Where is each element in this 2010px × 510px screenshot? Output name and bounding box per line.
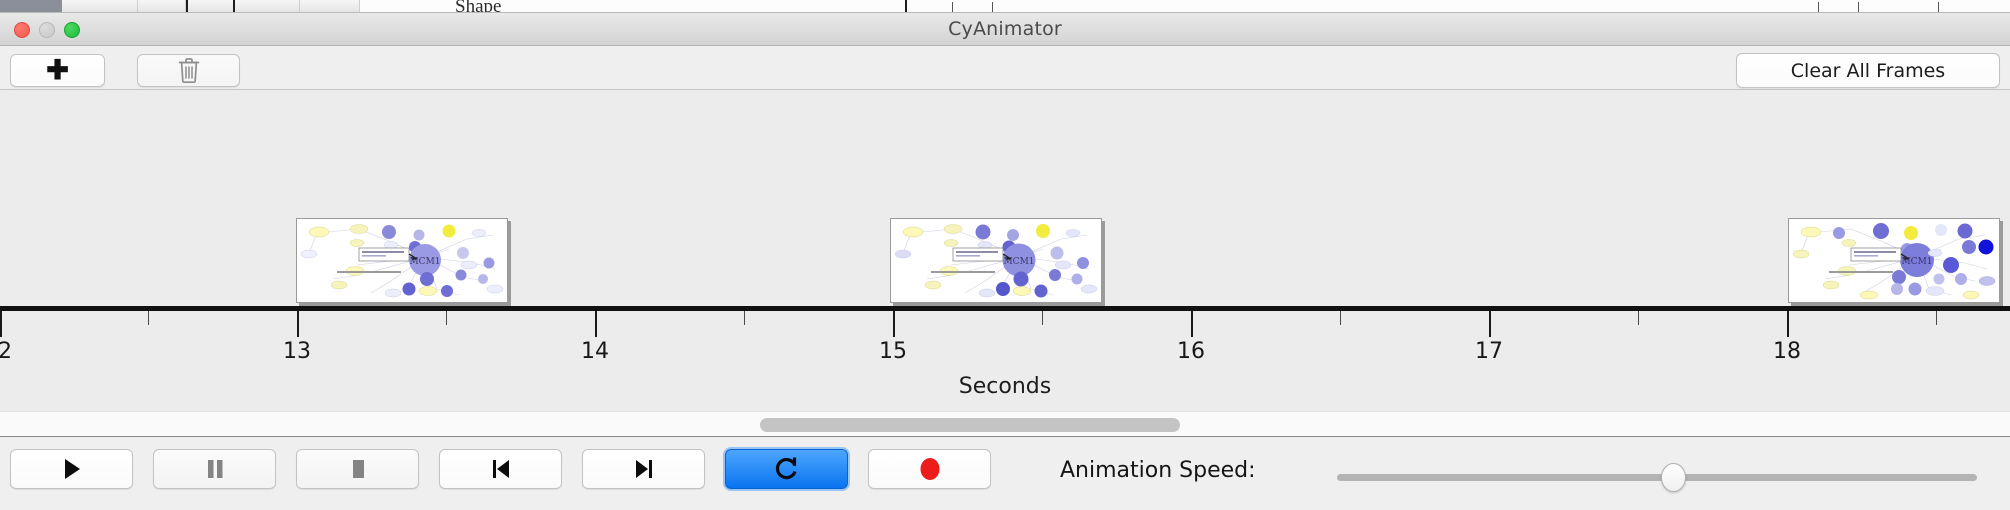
playback-toolbar: Animation Speed:: [0, 438, 2010, 510]
background-tab: [138, 0, 186, 13]
scrollbar-thumb[interactable]: [760, 418, 1180, 432]
timeline-frame-thumbnail[interactable]: MCM1: [890, 218, 1102, 303]
background-divider: [1818, 2, 1819, 13]
play-icon: [61, 457, 83, 481]
animation-speed-label: Animation Speed:: [1060, 458, 1256, 483]
timeline-frame-thumbnail[interactable]: MCM1: [296, 218, 508, 303]
stop-icon: [347, 457, 369, 481]
timeline-ruler[interactable]: 2 13 14 15 16 17 18 Seconds: [0, 306, 2010, 405]
ruler-tick-minor: [446, 311, 447, 325]
timeline-frame-thumbnail[interactable]: MCM1: [1788, 218, 2000, 303]
ruler-label: 17: [1475, 339, 1503, 364]
background-divider: [905, 0, 907, 13]
ruler-label: 13: [283, 339, 311, 364]
zoom-icon[interactable]: [64, 22, 80, 38]
ruler-tick-major: [0, 311, 2, 337]
ruler-label: 2: [0, 339, 12, 364]
timeline-axis-title: Seconds: [0, 374, 2010, 399]
background-window-label: Shape: [455, 0, 501, 13]
animation-speed-slider[interactable]: [1337, 474, 1977, 481]
window-titlebar: CyAnimator: [0, 13, 2010, 46]
timeline-panel[interactable]: MCM1: [0, 90, 2010, 405]
ruler-tick-major: [1787, 311, 1789, 337]
record-button[interactable]: [868, 449, 991, 489]
ruler-tick-minor: [1042, 311, 1043, 325]
clear-all-frames-label: Clear All Frames: [1791, 60, 1945, 82]
background-tab: [300, 0, 360, 13]
loop-icon: [774, 456, 800, 482]
ruler-tick-minor: [744, 311, 745, 325]
skip-to-end-button[interactable]: [582, 449, 705, 489]
background-divider: [1938, 2, 1939, 13]
ruler-label: 14: [581, 339, 609, 364]
ruler-label: 16: [1177, 339, 1205, 364]
add-frame-button[interactable]: ✚: [10, 54, 105, 87]
clear-all-frames-button[interactable]: Clear All Frames: [1736, 53, 2000, 88]
cyanimator-window: Shape CyAnimator ✚ Clear All Frames: [0, 0, 2010, 510]
background-window-strip: Shape: [0, 0, 2010, 13]
stop-button[interactable]: [296, 449, 419, 489]
plus-icon: ✚: [46, 57, 69, 84]
ruler-label: 15: [879, 339, 907, 364]
skip-to-start-button[interactable]: [439, 449, 562, 489]
ruler-tick-major: [1191, 311, 1193, 337]
delete-frame-button[interactable]: [137, 54, 240, 87]
background-divider: [186, 0, 188, 13]
background-divider: [233, 0, 235, 13]
skip-forward-icon: [632, 457, 656, 481]
window-traffic-lights: [14, 22, 80, 38]
ruler-tick-minor: [1638, 311, 1639, 325]
background-tab: [62, 0, 138, 13]
skip-back-icon: [489, 457, 513, 481]
ruler-tick-minor: [148, 311, 149, 325]
ruler-label: 18: [1773, 339, 1801, 364]
ruler-baseline: [0, 306, 2010, 311]
ruler-tick-major: [1489, 311, 1491, 337]
pause-icon: [204, 457, 226, 481]
record-icon: [917, 456, 943, 482]
background-tab: [186, 0, 234, 13]
background-divider: [992, 2, 993, 13]
play-button[interactable]: [10, 449, 133, 489]
background-divider: [1858, 2, 1859, 13]
background-window-selection: [0, 0, 62, 13]
loop-button[interactable]: [725, 449, 848, 489]
ruler-tick-minor: [1936, 311, 1937, 325]
timeline-horizontal-scrollbar[interactable]: [0, 411, 2010, 437]
animation-speed-slider-thumb[interactable]: [1661, 463, 1686, 492]
ruler-tick-major: [595, 311, 597, 337]
background-divider: [952, 2, 953, 13]
minimize-icon[interactable]: [39, 22, 55, 38]
ruler-tick-minor: [1340, 311, 1341, 325]
frame-toolbar: ✚ Clear All Frames: [0, 46, 2010, 90]
window-title: CyAnimator: [0, 18, 2010, 40]
pause-button[interactable]: [153, 449, 276, 489]
trash-icon: [177, 57, 201, 84]
ruler-tick-major: [297, 311, 299, 337]
background-tab: [234, 0, 300, 13]
ruler-tick-major: [893, 311, 895, 337]
close-icon[interactable]: [14, 22, 30, 38]
